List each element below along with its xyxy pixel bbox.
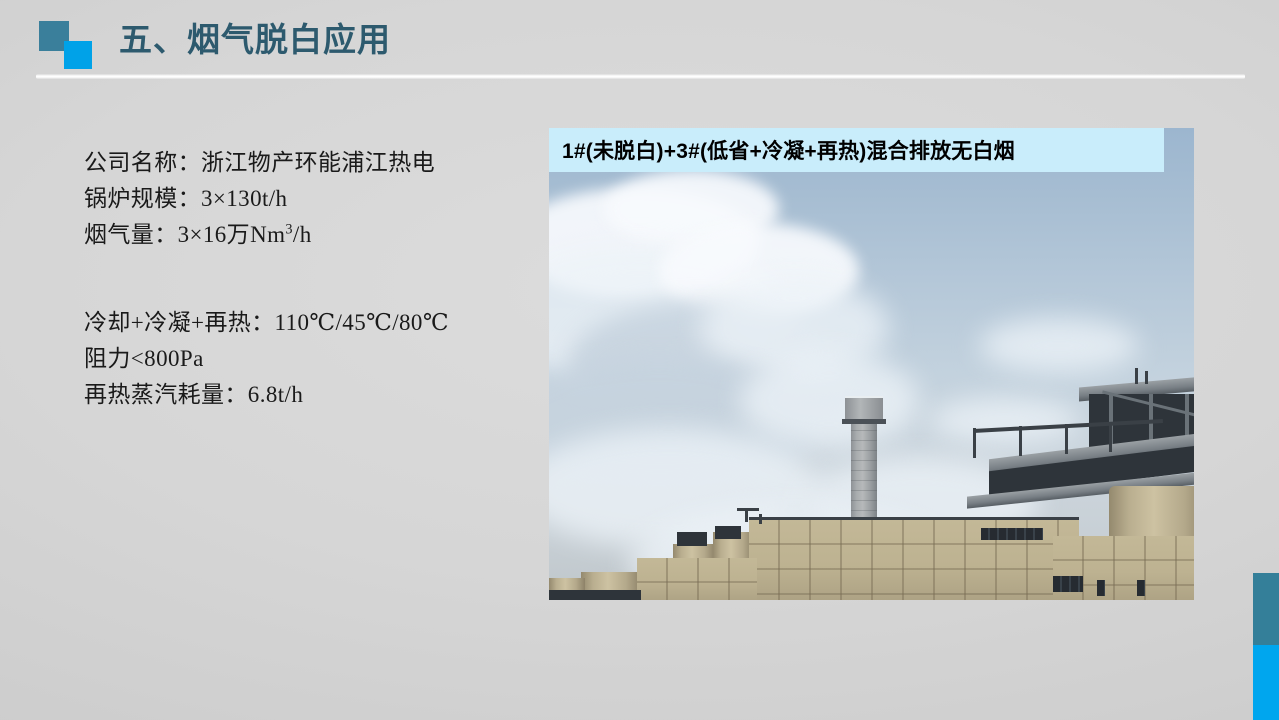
ground-shadow — [549, 590, 641, 600]
flue-gas-superscript: 3 — [285, 221, 293, 237]
rooftop-crossarm — [737, 508, 759, 511]
page-title: 五、烟气脱白应用 — [119, 19, 391, 61]
title-divider — [36, 74, 1245, 79]
building-window-strip — [1097, 580, 1105, 596]
flue-gas-suffix: /h — [293, 222, 312, 247]
body-text-block: 公司名称：浙江物产环能浦江热电 锅炉规模：3×130t/h 烟气量：3×16万N… — [84, 145, 504, 413]
rooftop-mast — [759, 514, 762, 524]
rooftop-mast — [745, 510, 748, 522]
accent-bar-bottom-segment — [1253, 645, 1279, 720]
rooftop-equipment — [677, 532, 707, 546]
building-parapet — [749, 517, 1079, 520]
building-window-strip — [1053, 576, 1083, 592]
text-line-resistance: 阻力<800Pa — [84, 341, 504, 377]
main-building-left-wing — [637, 558, 757, 600]
paragraph-gap — [84, 253, 504, 305]
cloud — [929, 398, 1079, 443]
building-window-strip — [981, 528, 1043, 540]
rooftop-equipment — [715, 526, 741, 539]
slide-canvas: 五、烟气脱白应用 公司名称：浙江物产环能浦江热电 锅炉规模：3×130t/h 烟… — [0, 0, 1279, 720]
building-window-strip — [1137, 580, 1145, 596]
flue-gas-prefix: 烟气量：3×16万Nm — [84, 222, 285, 247]
steel-mast — [1145, 371, 1148, 384]
accent-bar — [1253, 573, 1279, 720]
text-line-company: 公司名称：浙江物产环能浦江热电 — [84, 145, 504, 181]
plant-photo: 1#(未脱白)+3#(低省+冷凝+再热)混合排放无白烟 — [549, 128, 1194, 600]
chimney-collar — [842, 419, 886, 424]
text-line-boiler-scale: 锅炉规模：3×130t/h — [84, 181, 504, 217]
decor-square-cyan — [64, 41, 92, 69]
truss-post — [1109, 422, 1112, 452]
accent-bar-top-segment — [1253, 573, 1279, 645]
text-line-steam-consumption: 再热蒸汽耗量：6.8t/h — [84, 377, 504, 413]
cloud — [979, 318, 1139, 373]
steel-mast — [1135, 368, 1138, 384]
text-line-temperatures: 冷却+冷凝+再热：110℃/45℃/80℃ — [84, 305, 504, 341]
cloud — [739, 353, 919, 448]
photo-caption: 1#(未脱白)+3#(低省+冷凝+再热)混合排放无白烟 — [549, 128, 1164, 172]
text-line-flue-gas-volume: 烟气量：3×16万Nm3/h — [84, 217, 504, 253]
truss-post — [973, 428, 976, 458]
truss-post — [1065, 424, 1068, 454]
truss-post — [1019, 426, 1022, 456]
